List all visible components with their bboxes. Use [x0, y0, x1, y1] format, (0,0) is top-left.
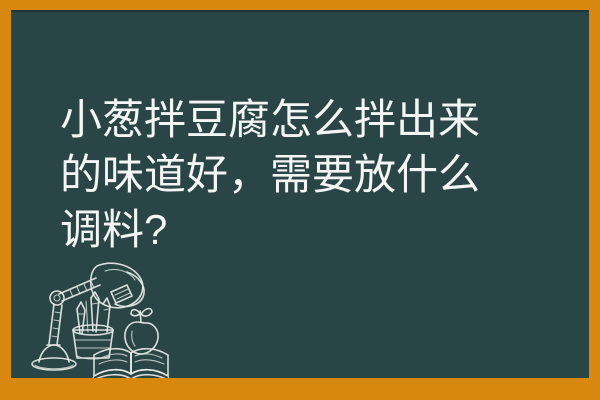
- apple-icon: [125, 309, 158, 355]
- question-text-block: 小葱拌豆腐怎么拌出来 的味道好，需要放什么 调料?: [60, 92, 550, 257]
- desk-lamp-icon: [32, 263, 144, 370]
- desk-study-illustration: [19, 252, 194, 378]
- question-card: 小葱拌豆腐怎么拌出来 的味道好，需要放什么 调料?: [0, 0, 600, 400]
- question-line-1: 小葱拌豆腐怎么拌出来: [60, 92, 550, 147]
- question-line-2: 的味道好，需要放什么: [60, 147, 550, 202]
- open-book-icon: [92, 349, 170, 378]
- question-line-3: 调料?: [60, 202, 550, 257]
- pencil-cup-icon: [73, 292, 113, 359]
- chalkboard-panel: 小葱拌豆腐怎么拌出来 的味道好，需要放什么 调料?: [11, 10, 589, 378]
